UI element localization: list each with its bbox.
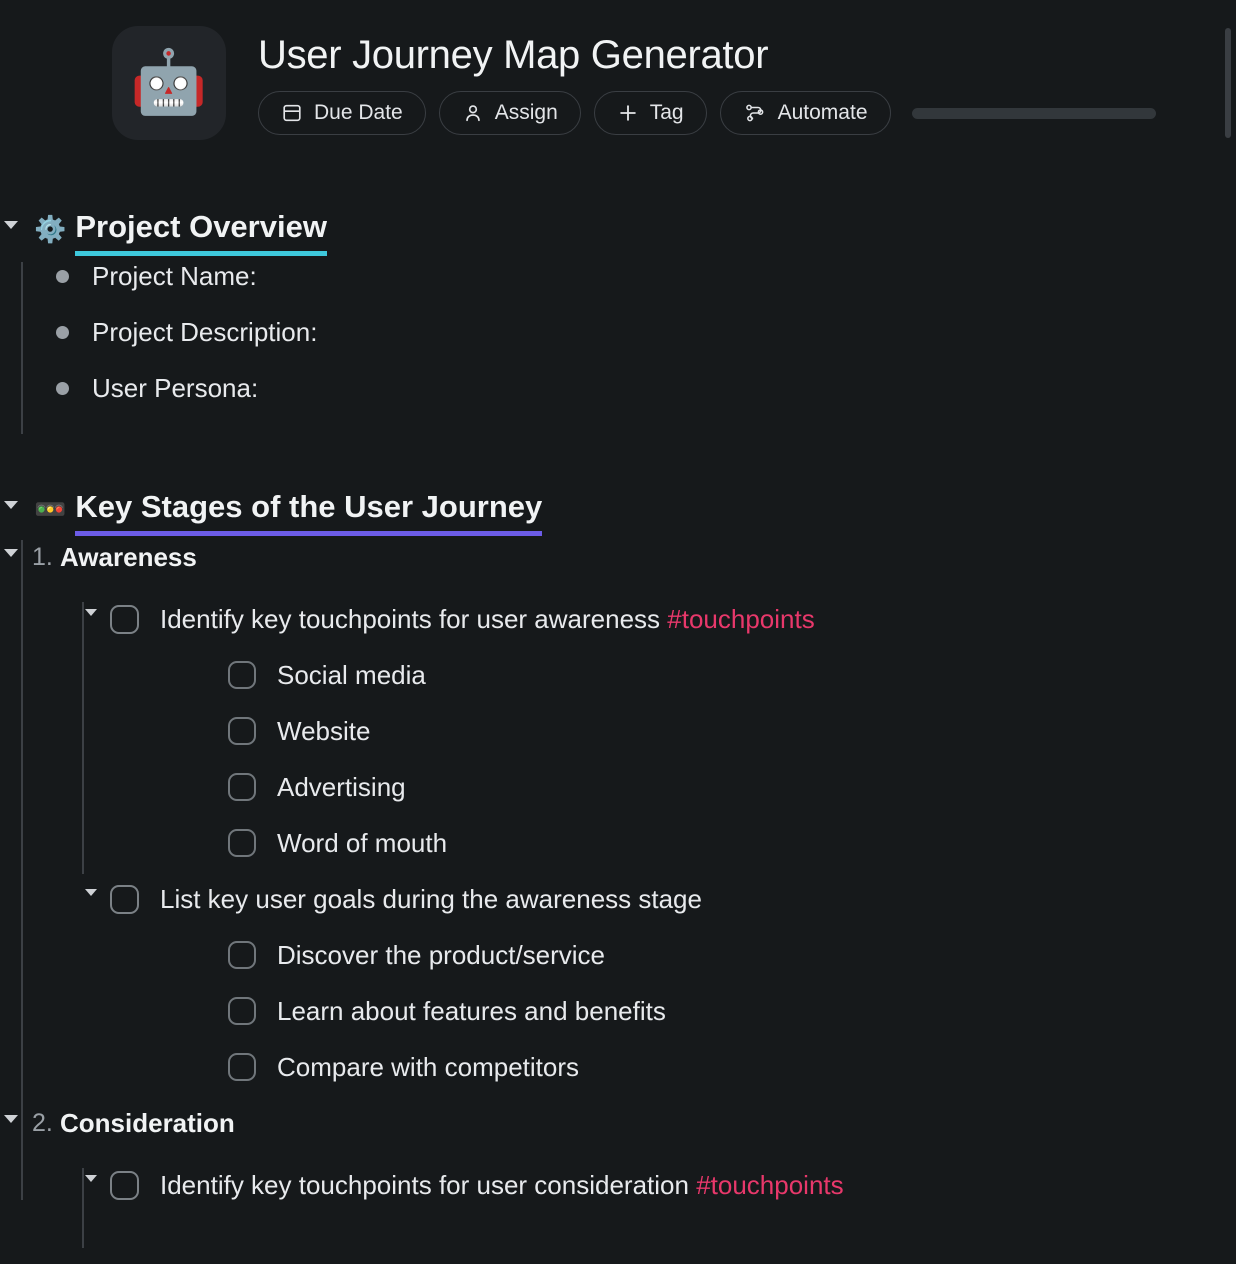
bullet-label: Project Name: [92,256,257,296]
assign-label: Assign [495,101,558,125]
automate-button[interactable]: Automate [720,91,891,135]
calendar-icon [281,102,303,124]
tag-label: Tag [650,101,684,125]
collapse-toggle-consideration[interactable] [0,1102,22,1123]
task-checkbox[interactable] [110,1171,139,1200]
collapse-toggle-task[interactable] [80,876,102,896]
person-icon [462,102,484,124]
task-checkbox[interactable] [110,605,139,634]
subtask-row[interactable]: Website [0,708,1236,764]
subtask-checkbox[interactable] [228,997,256,1025]
stage-number: 2. [22,1102,60,1144]
collapse-toggle-awareness[interactable] [0,536,22,557]
task-row[interactable]: Identify key touchpoints for user consid… [0,1162,1236,1218]
subtask-label: Website [277,708,370,754]
collapse-toggle-project-overview[interactable] [0,208,22,229]
list-item[interactable]: Project Description: [0,312,1236,368]
task-checkbox[interactable] [110,885,139,914]
robot-emoji[interactable]: 🤖 [112,26,226,140]
bullet-label: Project Description: [92,312,317,352]
section-spacer [0,424,1236,488]
subtask-checkbox[interactable] [228,1053,256,1081]
subtask-checkbox[interactable] [228,773,256,801]
subtask-row[interactable]: Word of mouth [0,820,1236,876]
gear-emoji: ⚙️ [34,208,66,242]
plus-icon [617,102,639,124]
section-heading: 🚥 Key Stages of the User Journey [22,488,542,536]
section-title-project-overview[interactable]: Project Overview [75,208,327,256]
stage-number: 1. [22,536,60,578]
header-content: User Journey Map Generator Due Date [258,26,1236,135]
list-item[interactable]: User Persona: [0,368,1236,424]
document-outline: ⚙️ Project Overview Project Name: Projec… [0,150,1236,1218]
subtask-row[interactable]: Compare with competitors [0,1044,1236,1100]
traffic-light-emoji: 🚥 [34,488,66,522]
section-heading: ⚙️ Project Overview [22,208,327,256]
section-title-key-stages[interactable]: Key Stages of the User Journey [75,488,542,536]
automate-label: Automate [778,101,868,125]
document-header: 🤖 User Journey Map Generator Due Date [0,0,1236,150]
tag-touchpoints[interactable]: #touchpoints [696,1170,843,1200]
task-label: Identify key touchpoints for user consid… [160,1162,844,1208]
page-title[interactable]: User Journey Map Generator [258,32,1236,78]
stage-consideration: 2. Consideration [0,1102,1236,1162]
header-progress-bar[interactable] [912,108,1156,119]
subtask-row[interactable]: Advertising [0,764,1236,820]
subtask-row[interactable]: Social media [0,652,1236,708]
subtask-label: Compare with competitors [277,1044,579,1090]
collapse-toggle-task[interactable] [80,596,102,616]
bullet-icon [56,382,69,395]
section-project-overview: ⚙️ Project Overview [0,208,1236,256]
scrollbar-thumb[interactable] [1225,28,1231,138]
bullet-label: User Persona: [92,368,258,408]
automation-nodes-icon [743,102,767,124]
subtask-label: Discover the product/service [277,932,605,978]
subtask-label: Social media [277,652,426,698]
task-label: List key user goals during the awareness… [160,876,702,922]
subtask-checkbox[interactable] [228,661,256,689]
list-item[interactable]: Project Name: [0,256,1236,312]
section-key-stages: 🚥 Key Stages of the User Journey [0,488,1236,536]
subtask-checkbox[interactable] [228,941,256,969]
subtask-row[interactable]: Learn about features and benefits [0,988,1236,1044]
task-row[interactable]: List key user goals during the awareness… [0,876,1236,932]
document-toolbar: Due Date Assign Tag [258,91,1236,135]
subtask-label: Advertising [277,764,406,810]
subtask-label: Learn about features and benefits [277,988,666,1034]
page-scrollbar[interactable] [1225,0,1234,1264]
bullet-icon [56,326,69,339]
collapse-toggle-task[interactable] [80,1162,102,1182]
subtask-checkbox[interactable] [228,717,256,745]
stage-awareness: 1. Awareness [0,536,1236,596]
due-date-label: Due Date [314,101,403,125]
bullet-icon [56,270,69,283]
subtask-label: Word of mouth [277,820,447,866]
stage-title[interactable]: Awareness [60,536,197,578]
tag-button[interactable]: Tag [594,91,707,135]
task-row[interactable]: Identify key touchpoints for user awaren… [0,596,1236,652]
subtask-checkbox[interactable] [228,829,256,857]
due-date-button[interactable]: Due Date [258,91,426,135]
tree-guide-line [21,262,23,434]
stage-title[interactable]: Consideration [60,1102,235,1144]
collapse-toggle-key-stages[interactable] [0,488,22,509]
subtask-row[interactable]: Discover the product/service [0,932,1236,988]
tag-touchpoints[interactable]: #touchpoints [667,604,814,634]
assign-button[interactable]: Assign [439,91,581,135]
task-label: Identify key touchpoints for user awaren… [160,596,815,642]
